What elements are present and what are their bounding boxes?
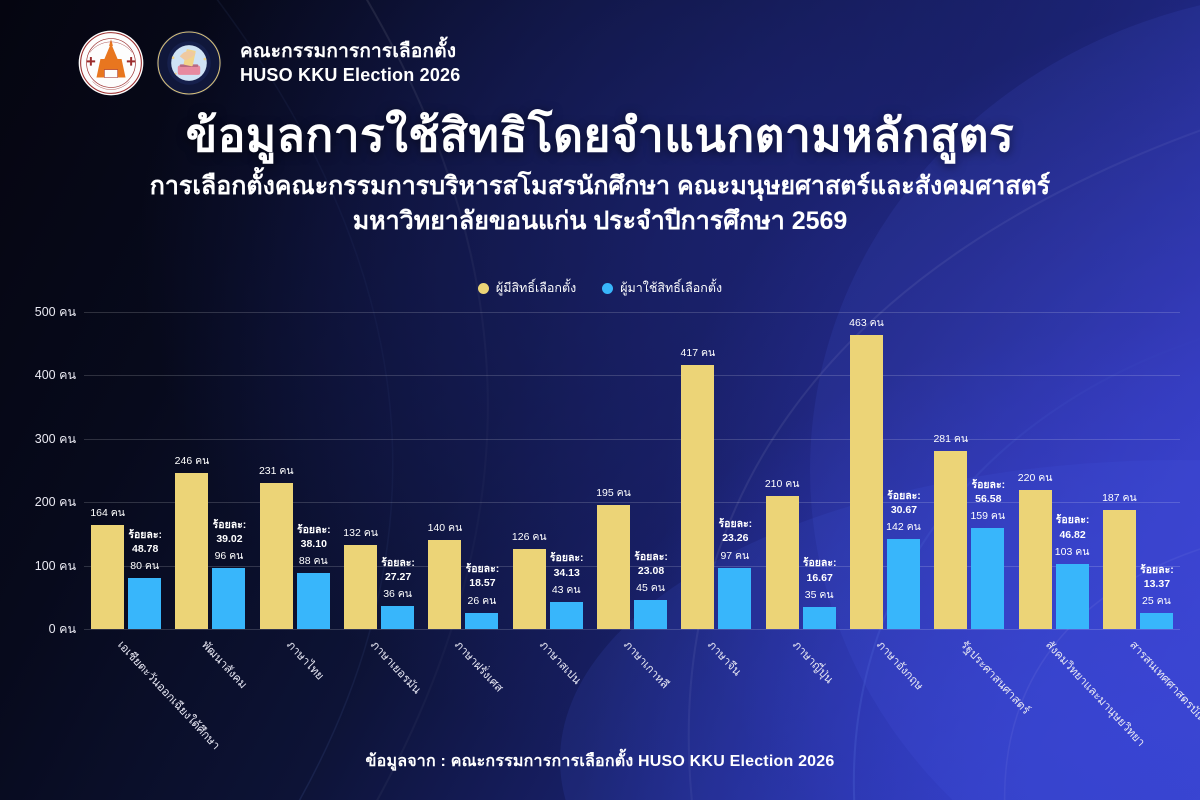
source-footer: ข้อมูลจาก : คณะกรรมการการเลือกตั้ง HUSO … <box>0 749 1200 774</box>
percentage-value: 27.27 <box>381 570 415 584</box>
bar-value-eligible: 463 คน <box>849 314 884 331</box>
bar-rect-voted <box>465 613 498 629</box>
percentage-prefix: ร้อยละ: <box>803 556 837 570</box>
bar-group[interactable]: 195 คน45 คนร้อยละ:23.08ภาษาเกาหลี <box>590 312 674 629</box>
bar-rect-voted <box>1140 613 1173 629</box>
x-axis-category-label: ภาษาฝรั่งเศส <box>450 637 507 697</box>
bar-rect-eligible <box>513 549 546 629</box>
percentage-prefix: ร้อยละ: <box>971 478 1005 492</box>
bar-rect-voted <box>212 568 245 629</box>
bar-rect-eligible <box>1019 490 1052 629</box>
percentage-value: 46.82 <box>1056 528 1090 542</box>
bar-groups: 164 คน80 คนร้อยละ:48.78เอเชียตะวันออกเฉี… <box>84 312 1180 629</box>
percentage-annotation: ร้อยละ:30.67 <box>887 489 921 517</box>
bar-voted[interactable]: 159 คน <box>971 528 1004 629</box>
bar-value-eligible: 281 คน <box>933 430 968 447</box>
bar-rect-eligible <box>597 505 630 629</box>
page-title: ข้อมูลการใช้สิทธิโดยจำแนกตามหลักสูตร <box>0 108 1200 162</box>
percentage-annotation: ร้อยละ:23.26 <box>719 517 753 545</box>
bar-value-eligible: 246 คน <box>175 452 210 469</box>
bar-rect-eligible <box>1103 510 1136 629</box>
y-axis-tick-label: 400 คน <box>0 365 76 385</box>
bar-value-eligible: 417 คน <box>681 344 716 361</box>
percentage-annotation: ร้อยละ:48.78 <box>128 528 162 556</box>
bar-voted[interactable]: 97 คน <box>718 568 751 629</box>
percentage-prefix: ร้อยละ: <box>381 556 415 570</box>
percentage-value: 23.08 <box>634 564 668 578</box>
percentage-value: 13.37 <box>1140 577 1174 591</box>
bar-rect-eligible <box>681 365 714 629</box>
percentage-annotation: ร้อยละ:46.82 <box>1056 513 1090 541</box>
bar-voted[interactable]: 26 คน <box>465 613 498 629</box>
bar-eligible[interactable]: 126 คน <box>513 549 546 629</box>
bar-value-eligible: 132 คน <box>343 524 378 541</box>
bar-rect-eligible <box>766 496 799 629</box>
bar-value-voted: 97 คน <box>720 547 749 564</box>
bar-eligible[interactable]: 231 คน <box>260 483 293 629</box>
bar-value-voted: 35 คน <box>805 586 834 603</box>
percentage-prefix: ร้อยละ: <box>213 518 247 532</box>
chart-legend: ผู้มีสิทธิ์เลือกตั้งผู้มาใช้สิทธิ์เลือกต… <box>0 278 1200 298</box>
bar-chart: 0 คน100 คน200 คน300 คน400 คน500 คน164 คน… <box>84 312 1180 629</box>
bar-value-voted: 25 คน <box>1142 592 1171 609</box>
bar-value-eligible: 220 คน <box>1018 469 1053 486</box>
grid-line <box>84 629 1180 630</box>
bar-group[interactable]: 463 คน142 คนร้อยละ:30.67ภาษาอังกฤษ <box>843 312 927 629</box>
bar-voted[interactable]: 103 คน <box>1056 564 1089 629</box>
bar-eligible[interactable]: 195 คน <box>597 505 630 629</box>
bar-rect-eligible <box>428 540 461 629</box>
bar-voted[interactable]: 36 คน <box>381 606 414 629</box>
percentage-annotation: ร้อยละ:18.57 <box>466 562 500 590</box>
bar-eligible[interactable]: 164 คน <box>91 525 124 629</box>
bar-rect-voted <box>971 528 1004 629</box>
percentage-value: 39.02 <box>213 532 247 546</box>
bar-value-eligible: 187 คน <box>1102 489 1137 506</box>
x-axis-category-label: ภาษาจีน <box>703 637 745 680</box>
bar-eligible[interactable]: 246 คน <box>175 473 208 629</box>
brand-title-en: HUSO KKU Election 2026 <box>240 64 460 88</box>
percentage-annotation: ร้อยละ:56.58 <box>971 478 1005 506</box>
x-axis-category-label: ภาษาไทย <box>282 637 328 685</box>
bar-rect-voted <box>128 578 161 629</box>
bar-value-eligible: 164 คน <box>90 504 125 521</box>
percentage-annotation: ร้อยละ:38.10 <box>297 523 331 551</box>
bar-value-voted: 96 คน <box>215 547 244 564</box>
percentage-annotation: ร้อยละ:27.27 <box>381 556 415 584</box>
bar-group[interactable]: 246 คน96 คนร้อยละ:39.02พัฒนาสังคม <box>168 312 252 629</box>
bar-rect-voted <box>803 607 836 629</box>
bar-voted[interactable]: 25 คน <box>1140 613 1173 629</box>
percentage-value: 30.67 <box>887 503 921 517</box>
bar-value-eligible: 126 คน <box>512 528 547 545</box>
bar-value-voted: 80 คน <box>130 557 159 574</box>
y-axis-tick-label: 0 คน <box>0 619 76 639</box>
brand-title-thai: คณะกรรมการการเลือกตั้ง <box>240 39 460 64</box>
bar-rect-eligible <box>175 473 208 629</box>
percentage-prefix: ร้อยละ: <box>1140 563 1174 577</box>
bar-eligible[interactable]: 281 คน <box>934 451 967 629</box>
bar-value-eligible: 140 คน <box>428 519 463 536</box>
x-axis-category-label: พัฒนาสังคม <box>197 637 251 693</box>
percentage-annotation: ร้อยละ:23.08 <box>634 550 668 578</box>
huso-election-commission-seal-logo <box>156 30 222 96</box>
title-block: ข้อมูลการใช้สิทธิโดยจำแนกตามหลักสูตร การ… <box>0 108 1200 237</box>
bar-eligible[interactable]: 463 คน <box>850 335 883 629</box>
bar-value-voted: 142 คน <box>886 518 921 535</box>
percentage-prefix: ร้อยละ: <box>1056 513 1090 527</box>
bar-rect-eligible <box>344 545 377 629</box>
bar-group[interactable]: 417 คน97 คนร้อยละ:23.26ภาษาจีน <box>674 312 758 629</box>
bar-value-voted: 103 คน <box>1055 543 1090 560</box>
legend-label-eligible: ผู้มีสิทธิ์เลือกตั้ง <box>496 278 576 298</box>
bar-value-eligible: 231 คน <box>259 462 294 479</box>
bar-eligible[interactable]: 417 คน <box>681 365 714 629</box>
bar-group[interactable]: 187 คน25 คนร้อยละ:13.37สารสนเทศศาสตรบัณฑ… <box>1096 312 1180 629</box>
legend-swatch-eligible <box>478 283 489 294</box>
bar-voted[interactable]: 142 คน <box>887 539 920 629</box>
bar-value-voted: 43 คน <box>552 581 581 598</box>
percentage-annotation: ร้อยละ:13.37 <box>1140 563 1174 591</box>
bar-value-eligible: 195 คน <box>596 484 631 501</box>
bar-value-voted: 88 คน <box>299 552 328 569</box>
page-subtitle-2: มหาวิทยาลัยขอนแก่น ประจำปีการศึกษา 2569 <box>0 205 1200 238</box>
percentage-annotation: ร้อยละ:39.02 <box>213 518 247 546</box>
bar-eligible[interactable]: 187 คน <box>1103 510 1136 629</box>
bar-voted[interactable]: 43 คน <box>550 602 583 629</box>
percentage-annotation: ร้อยละ:34.13 <box>550 551 584 579</box>
bar-voted[interactable]: 35 คน <box>803 607 836 629</box>
bar-value-voted: 159 คน <box>970 507 1005 524</box>
bar-rect-eligible <box>934 451 967 629</box>
legend-label-voted: ผู้มาใช้สิทธิ์เลือกตั้ง <box>620 278 722 298</box>
bar-rect-voted <box>550 602 583 629</box>
bar-eligible[interactable]: 132 คน <box>344 545 377 629</box>
x-axis-category-label: ภาษาเกาหลี <box>619 637 673 693</box>
bar-rect-voted <box>634 600 667 629</box>
bar-rect-voted <box>381 606 414 629</box>
percentage-value: 16.67 <box>803 571 837 585</box>
bar-rect-voted <box>297 573 330 629</box>
bar-voted[interactable]: 80 คน <box>128 578 161 629</box>
percentage-prefix: ร้อยละ: <box>634 550 668 564</box>
bar-voted[interactable]: 45 คน <box>634 600 667 629</box>
bar-value-voted: 36 คน <box>383 585 412 602</box>
bar-group[interactable]: 164 คน80 คนร้อยละ:48.78เอเชียตะวันออกเฉี… <box>84 312 168 629</box>
bar-eligible[interactable]: 220 คน <box>1019 490 1052 629</box>
percentage-prefix: ร้อยละ: <box>719 517 753 531</box>
bar-rect-eligible <box>91 525 124 629</box>
bar-rect-eligible <box>260 483 293 629</box>
bar-group[interactable]: 220 คน103 คนร้อยละ:46.82สังคมวิทยาและมาน… <box>1011 312 1095 629</box>
legend-swatch-voted <box>602 283 613 294</box>
x-axis-category-label: ภาษาอังกฤษ <box>872 637 928 695</box>
percentage-prefix: ร้อยละ: <box>466 562 500 576</box>
percentage-value: 56.58 <box>971 492 1005 506</box>
bar-group[interactable]: 140 คน26 คนร้อยละ:18.57ภาษาฝรั่งเศส <box>421 312 505 629</box>
x-axis-category-label: สารสนเทศศาสตรบัณฑิต <box>1125 637 1200 739</box>
percentage-value: 18.57 <box>466 576 500 590</box>
x-axis-category-label: ภาษาเยอรมัน <box>366 637 425 698</box>
bar-group[interactable]: 281 คน159 คนร้อยละ:56.58รัฐประศาสนศาสตร์ <box>927 312 1011 629</box>
bar-rect-eligible <box>850 335 883 629</box>
brand-header: คณะกรรมการการเลือกตั้ง HUSO KKU Election… <box>78 30 460 96</box>
bar-rect-voted <box>718 568 751 629</box>
y-axis-tick-label: 300 คน <box>0 429 76 449</box>
bar-voted[interactable]: 88 คน <box>297 573 330 629</box>
bar-rect-voted <box>887 539 920 629</box>
bar-eligible[interactable]: 140 คน <box>428 540 461 629</box>
x-axis-category-label: ภาษาญี่ปุ่น <box>787 637 836 688</box>
bar-voted[interactable]: 96 คน <box>212 568 245 629</box>
percentage-value: 48.78 <box>128 542 162 556</box>
percentage-value: 34.13 <box>550 566 584 580</box>
y-axis-tick-label: 100 คน <box>0 556 76 576</box>
y-axis-tick-label: 200 คน <box>0 492 76 512</box>
percentage-prefix: ร้อยละ: <box>550 551 584 565</box>
percentage-annotation: ร้อยละ:16.67 <box>803 556 837 584</box>
bar-group[interactable]: 210 คน35 คนร้อยละ:16.67ภาษาญี่ปุ่น <box>759 312 843 629</box>
infographic-page: คณะกรรมการการเลือกตั้ง HUSO KKU Election… <box>0 0 1200 800</box>
bar-value-voted: 45 คน <box>636 579 665 596</box>
bar-group[interactable]: 231 คน88 คนร้อยละ:38.10ภาษาไทย <box>253 312 337 629</box>
percentage-prefix: ร้อยละ: <box>887 489 921 503</box>
bar-value-eligible: 210 คน <box>765 475 800 492</box>
x-axis-category-label: รัฐประศาสนศาสตร์ <box>956 637 1034 719</box>
legend-item-voted[interactable]: ผู้มาใช้สิทธิ์เลือกตั้ง <box>602 278 722 298</box>
bar-rect-voted <box>1056 564 1089 629</box>
x-axis-category-label: ภาษาสเปน <box>535 637 585 689</box>
bar-value-voted: 26 คน <box>468 592 497 609</box>
percentage-value: 23.26 <box>719 531 753 545</box>
percentage-value: 38.10 <box>297 537 331 551</box>
bar-group[interactable]: 132 คน36 คนร้อยละ:27.27ภาษาเยอรมัน <box>337 312 421 629</box>
bar-eligible[interactable]: 210 คน <box>766 496 799 629</box>
percentage-prefix: ร้อยละ: <box>297 523 331 537</box>
percentage-prefix: ร้อยละ: <box>128 528 162 542</box>
page-subtitle-1: การเลือกตั้งคณะกรรมการบริหารสโมสรนักศึกษ… <box>0 170 1200 203</box>
kku-university-seal-logo <box>78 30 144 96</box>
bar-group[interactable]: 126 คน43 คนร้อยละ:34.13ภาษาสเปน <box>506 312 590 629</box>
legend-item-eligible[interactable]: ผู้มีสิทธิ์เลือกตั้ง <box>478 278 576 298</box>
y-axis-tick-label: 500 คน <box>0 302 76 322</box>
